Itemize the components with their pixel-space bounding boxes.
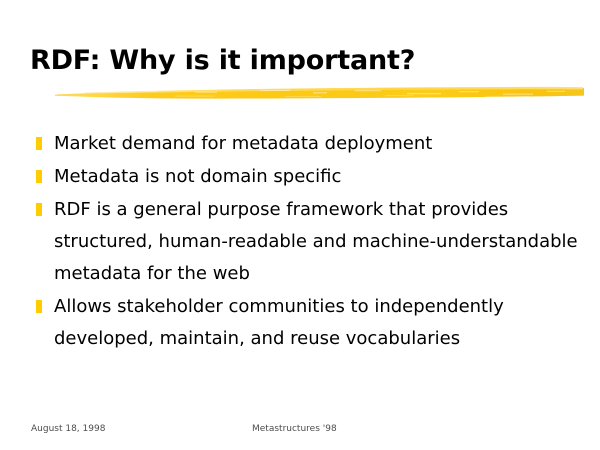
list-item: RDF is a general purpose framework that …	[30, 194, 585, 290]
footer-event-name: Metastructures '98	[252, 424, 337, 434]
yellow-square-bullet-icon	[36, 137, 42, 150]
slide-canvas: RDF: Why is it important?	[0, 0, 600, 450]
slide-footer: August 18, 1998 Metastructures '98	[0, 424, 600, 438]
title-block: RDF: Why is it important?	[30, 44, 580, 77]
yellow-square-bullet-icon	[36, 300, 42, 313]
list-item-label: Market demand for metadata deployment	[54, 128, 585, 160]
yellow-square-bullet-icon	[36, 203, 42, 216]
list-item: Market demand for metadata deployment	[30, 128, 585, 160]
list-item-label: RDF is a general purpose framework that …	[54, 194, 585, 290]
page-title: RDF: Why is it important?	[30, 44, 580, 77]
list-item: Allows stakeholder communities to indepe…	[30, 291, 585, 355]
list-item-label: Allows stakeholder communities to indepe…	[54, 291, 585, 355]
brush-stroke-underline-icon	[55, 81, 585, 103]
list-item: Metadata is not domain specific	[30, 161, 585, 193]
yellow-square-bullet-icon	[36, 170, 42, 183]
footer-date: August 18, 1998	[31, 424, 105, 434]
bullet-list: Market demand for metadata deployment Me…	[30, 128, 585, 356]
list-item-label: Metadata is not domain specific	[54, 161, 585, 193]
